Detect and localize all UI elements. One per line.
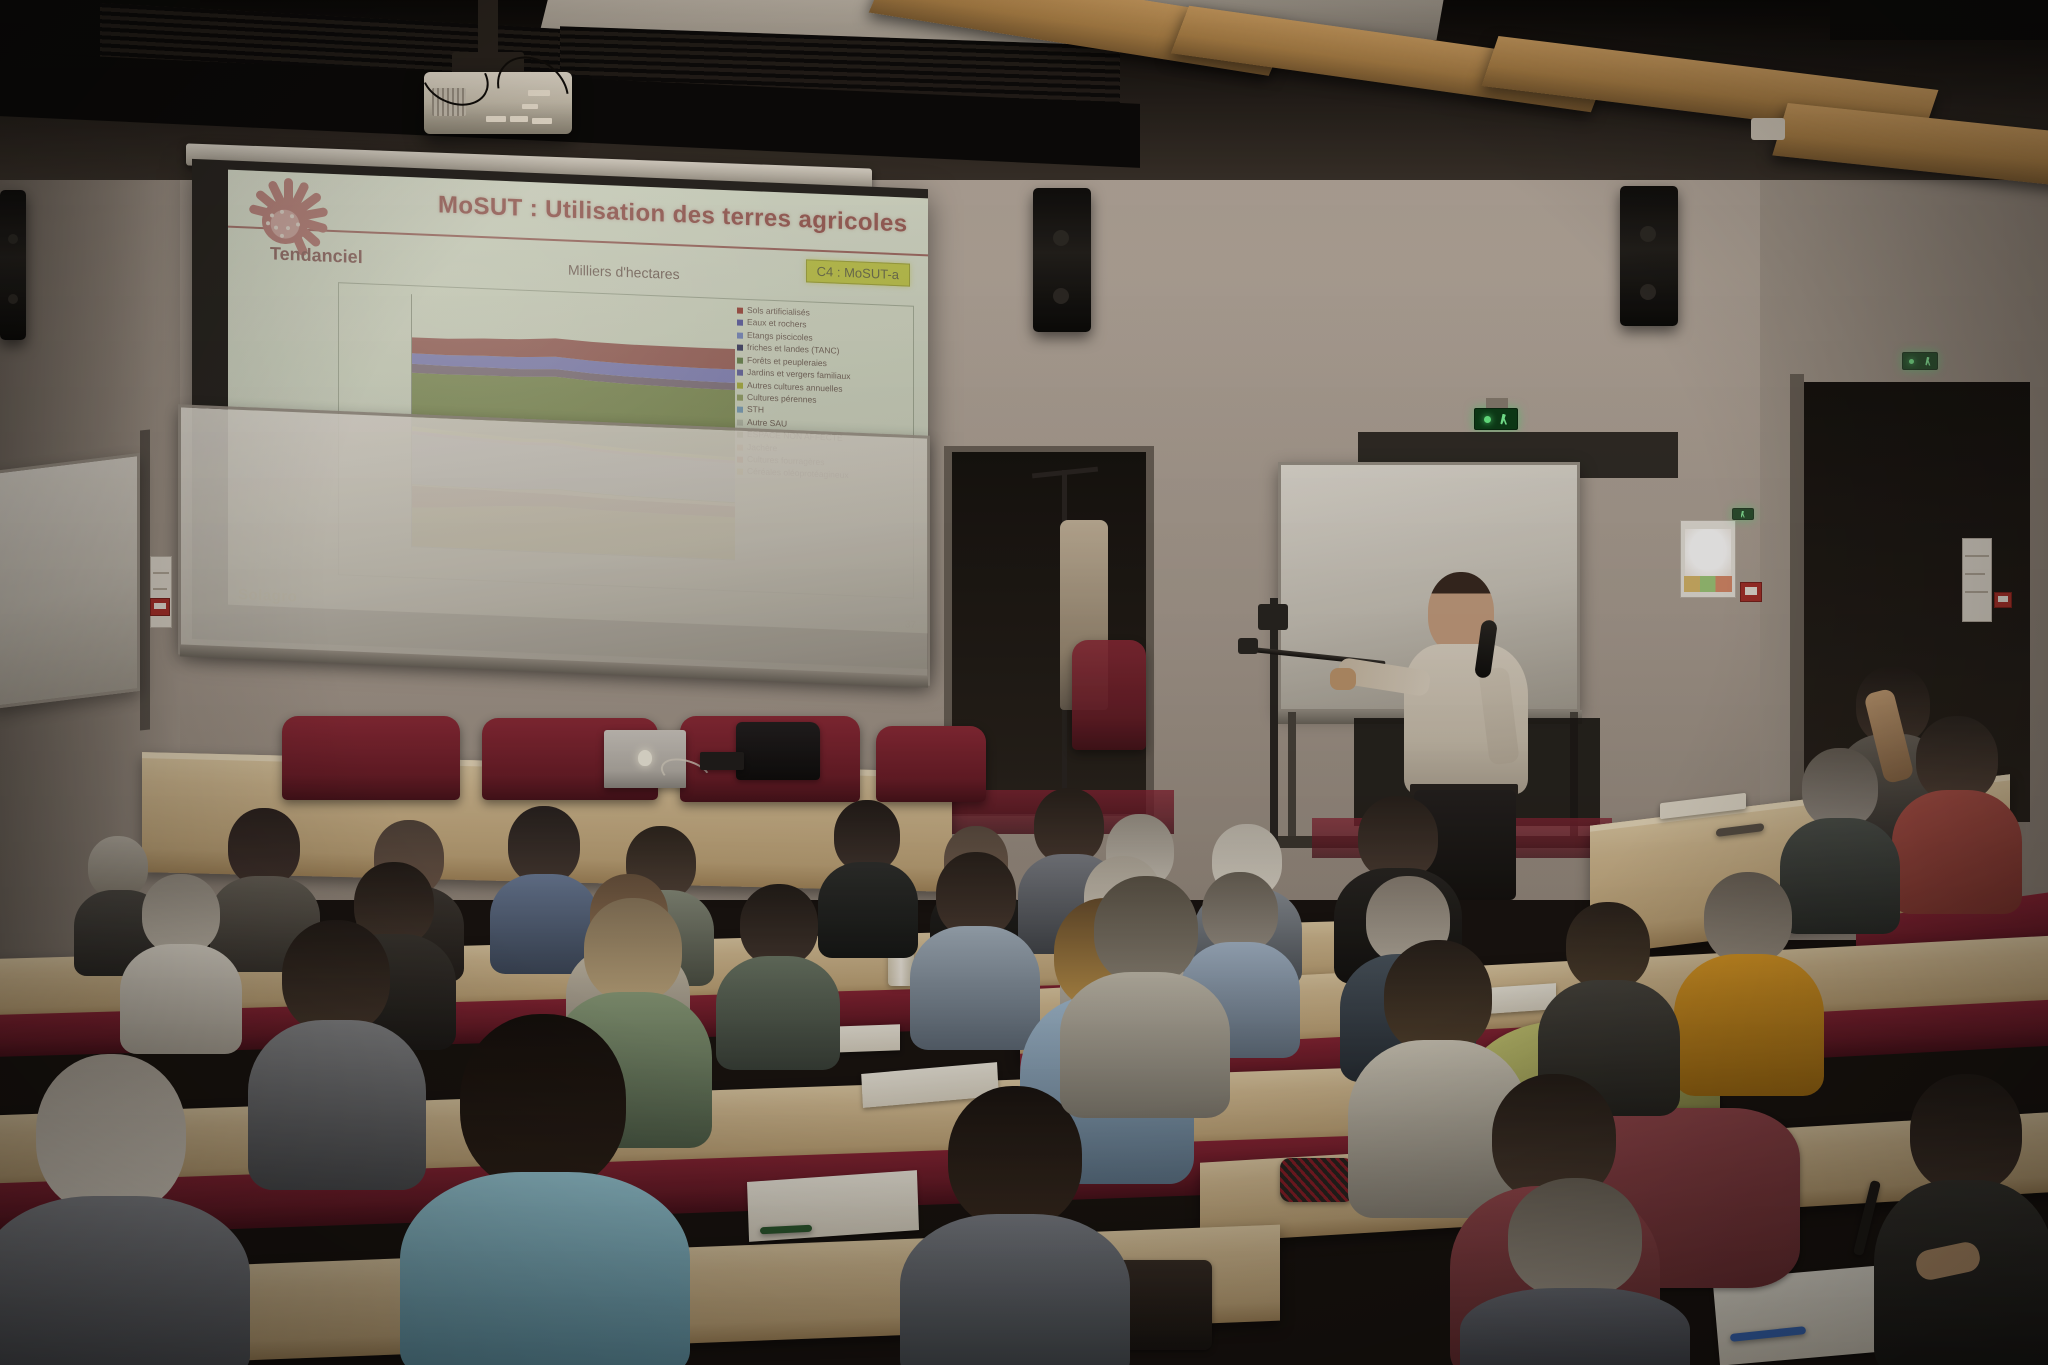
chair-behind-rack[interactable] <box>1072 640 1146 750</box>
audience-member <box>0 1054 250 1365</box>
legend-label: Etangs piscicoles <box>747 331 813 343</box>
cable-coil <box>1280 1158 1354 1202</box>
exit-pictogram-small <box>1732 508 1754 520</box>
left-wall-notice <box>150 556 172 628</box>
audience-member <box>1460 1178 1690 1365</box>
legend-swatch <box>737 394 743 400</box>
wall-whiteboard-left <box>178 404 930 686</box>
poster-color-strip <box>1684 576 1732 593</box>
legend-label: Cultures pérennes <box>747 393 816 405</box>
audience-member <box>716 884 840 1062</box>
wall-whiteboard-far-left <box>0 453 140 709</box>
pointer-stand-pole <box>1270 598 1278 858</box>
pointer-stand-clamp <box>1258 604 1288 630</box>
wall-speaker-right <box>1620 186 1678 326</box>
legend-label: STH <box>747 405 764 415</box>
audience-member <box>1674 872 1824 1092</box>
legend-label: Autres cultures annuelles <box>747 380 842 393</box>
wall-speaker-center <box>1033 188 1091 332</box>
audience-member <box>1874 1074 2048 1365</box>
y-axis-tick <box>411 294 412 295</box>
legend-swatch <box>737 370 743 376</box>
y-axis-tick <box>411 378 412 379</box>
legend-label: Forêts et peupleraies <box>747 356 827 368</box>
audience-member <box>900 1086 1130 1365</box>
apple-logo-icon <box>638 750 652 766</box>
audience-member <box>400 1014 690 1365</box>
wall-poster <box>1680 520 1736 598</box>
chart-unit-label: Milliers d'hectares <box>568 262 680 283</box>
pointer-tip <box>1238 638 1258 654</box>
emergency-exit-sign <box>1474 408 1518 430</box>
front-chair-1[interactable] <box>282 716 460 800</box>
legend-swatch <box>737 320 743 326</box>
legend-swatch <box>737 419 743 425</box>
front-chair-4[interactable] <box>876 726 986 802</box>
desk-item <box>700 752 744 770</box>
smoke-detector <box>1751 118 1785 140</box>
legend-swatch <box>737 345 743 351</box>
audience-member <box>1060 876 1230 1106</box>
right-alarm-2[interactable] <box>1994 592 2012 608</box>
ceiling-soffit-right <box>1830 0 2048 40</box>
slide-badge: C4 : MoSUT-a <box>806 259 910 286</box>
legend-swatch <box>737 382 743 388</box>
emergency-exit-sign-right[interactable] <box>1902 352 1938 370</box>
legend-swatch <box>737 357 743 363</box>
legend-swatch <box>737 308 743 314</box>
legend-swatch <box>737 332 743 338</box>
wall-speaker-left <box>0 190 26 340</box>
whiteboard-stand-left <box>1288 712 1296 842</box>
slide-scenario-label: Tendanciel <box>270 243 363 268</box>
audience-member <box>120 874 242 1044</box>
presenter-hand <box>1330 668 1356 690</box>
desk-bag <box>736 722 820 780</box>
right-wall-notice <box>1962 538 1992 622</box>
exit-sign-bracket <box>1486 398 1508 408</box>
projector-label-1 <box>486 116 506 122</box>
audience-member <box>1892 716 2022 906</box>
left-fire-alarm[interactable] <box>150 598 170 616</box>
legend-label: friches et landes (TANC) <box>747 343 839 356</box>
left-wall-edge <box>140 429 150 730</box>
legend-swatch <box>737 407 743 413</box>
legend-label: Jardins et vergers familiaux <box>747 368 850 381</box>
poster-image <box>1685 529 1730 576</box>
y-axis-tick <box>411 336 412 337</box>
fire-alarm-call-point[interactable] <box>1740 582 1762 602</box>
legend-label: Sols artificialisés <box>747 306 810 318</box>
legend-label: Eaux et rochers <box>747 318 807 329</box>
lecture-hall-scene: MoSUT : Utilisation des terres agricoles… <box>0 0 2048 1365</box>
legend-label: Autre SAU <box>747 418 787 429</box>
